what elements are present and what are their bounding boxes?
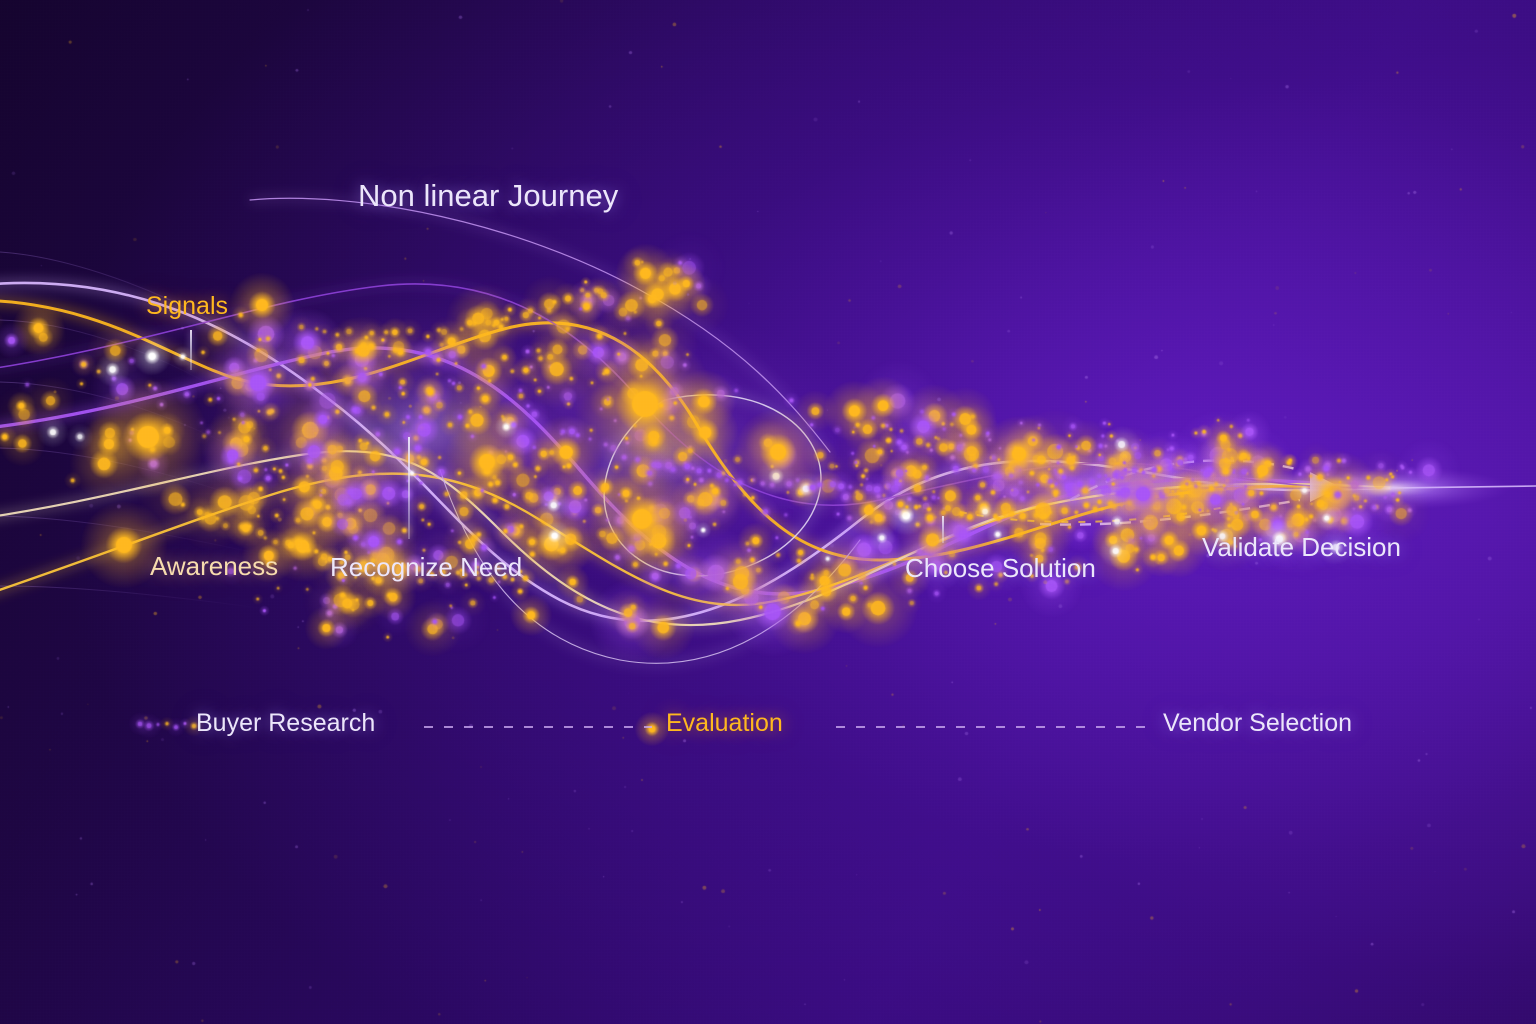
stage-label-signals[interactable]: Signals — [146, 294, 228, 319]
leader-line-signals — [190, 330, 192, 370]
timeline-item-vendor-selection[interactable]: Vendor Selection — [1163, 711, 1352, 736]
stage-label-choose-solution[interactable]: Choose Solution — [905, 555, 1096, 581]
connector-research-evaluation — [424, 726, 652, 728]
timeline-item-evaluation[interactable]: Evaluation — [666, 711, 783, 736]
timeline-item-buyer-research[interactable]: Buyer Research — [196, 711, 375, 736]
leader-line-recognize-need — [408, 437, 410, 539]
connector-evaluation-vendor — [836, 726, 1150, 728]
stage-label-recognize-need[interactable]: Recognize Need — [330, 554, 522, 580]
page-title: Non linear Journey — [358, 180, 618, 211]
stage-label-awareness[interactable]: Awareness — [150, 553, 278, 579]
particle-field — [0, 0, 1536, 1024]
leader-line-choose-solution — [942, 516, 944, 543]
stage-label-validate-decision[interactable]: Validate Decision — [1202, 534, 1401, 560]
journey-visualization: Non linear Journey SignalsAwarenessRecog… — [0, 0, 1536, 1024]
